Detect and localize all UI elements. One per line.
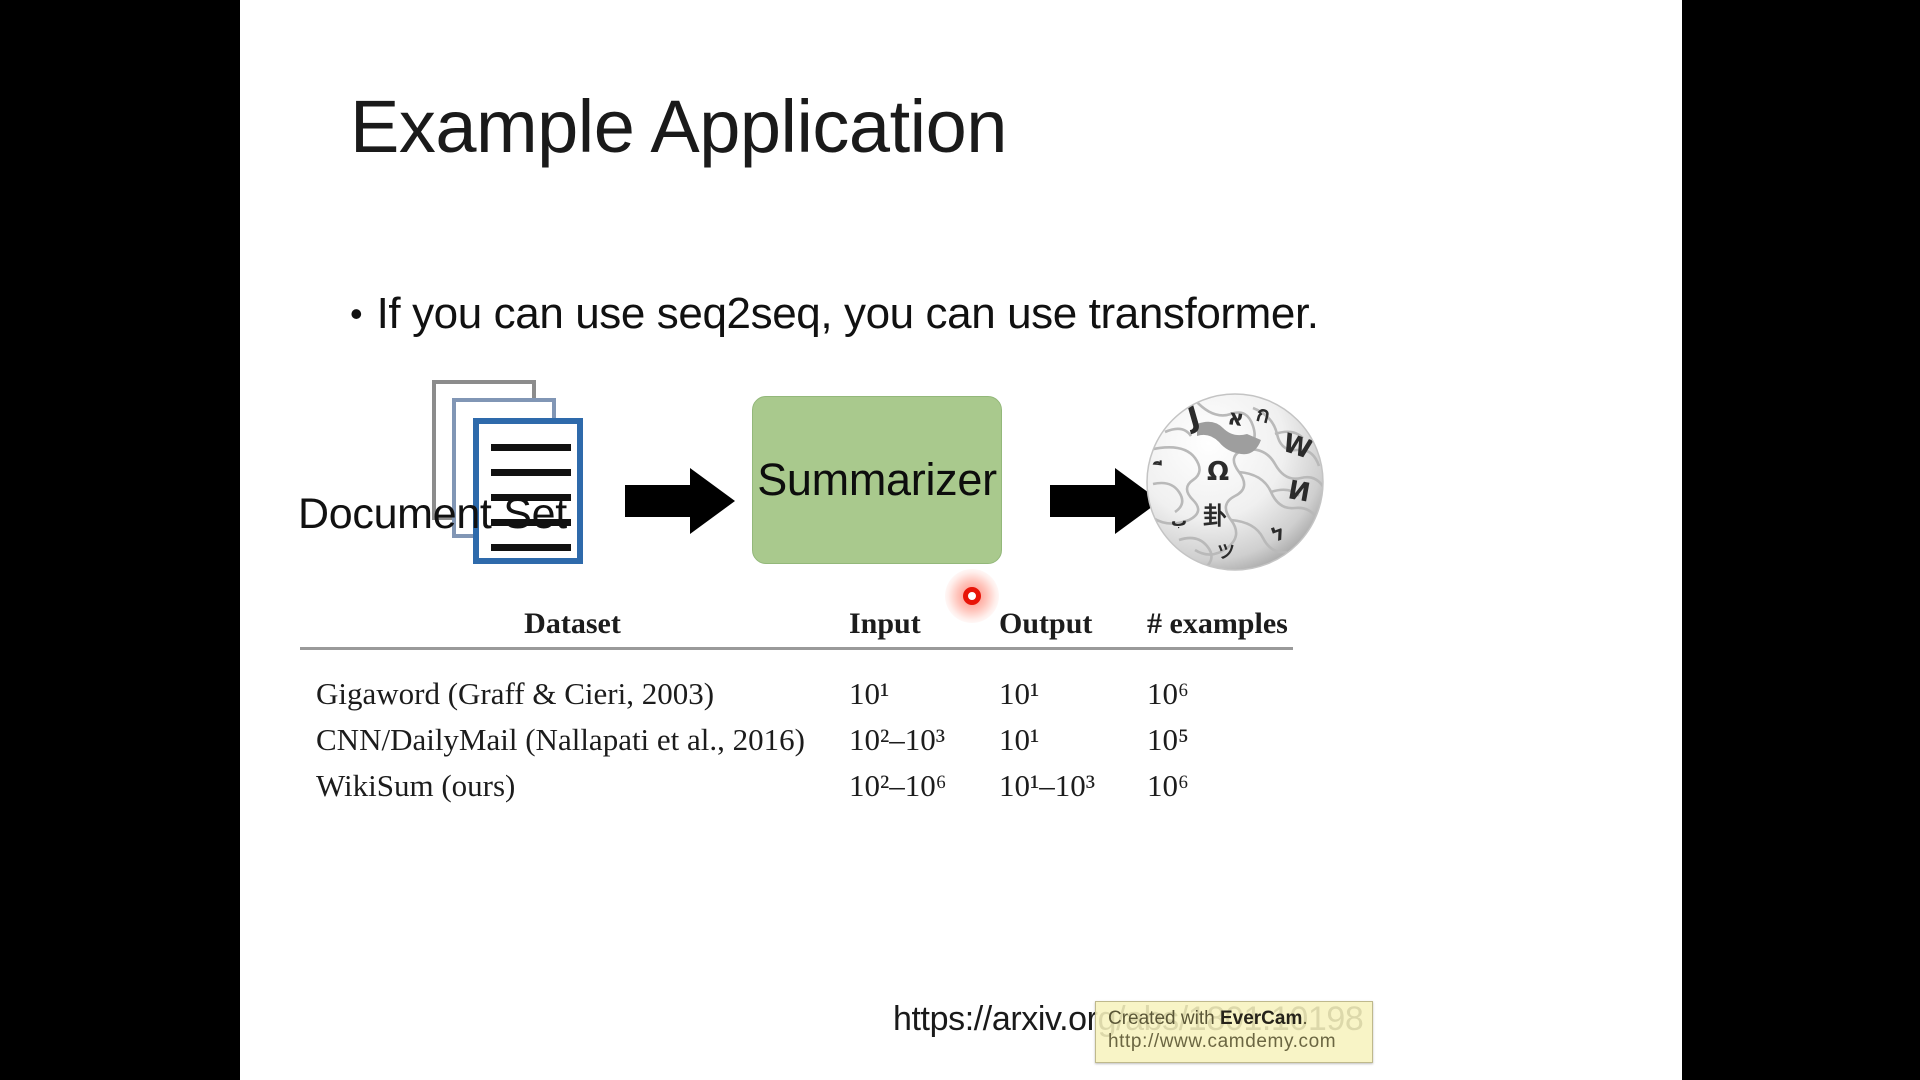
- evercam-url: http://www.camdemy.com: [1108, 1030, 1362, 1054]
- wikipedia-globe-icon: J א ก W И Ω ี 卦 ל ツ ب: [1135, 380, 1335, 580]
- cell-input: 10²–10³: [845, 722, 987, 758]
- table-header-examples: # examples: [1137, 607, 1293, 641]
- evercam-created-line: Created with EverCam.: [1108, 1007, 1362, 1030]
- document-text-line: [491, 544, 571, 551]
- letterbox-right: [1682, 0, 1920, 1080]
- dataset-table: Dataset Input Output # examples Gigaword…: [300, 595, 1300, 814]
- table-row: WikiSum (ours) 10²–10⁶ 10¹–10³ 10⁶: [300, 768, 1300, 814]
- cell-examples: 10⁶: [1137, 676, 1293, 712]
- table-header-rule: [300, 647, 1293, 650]
- evercam-brand: EverCam: [1220, 1008, 1302, 1029]
- cell-examples: 10⁵: [1137, 722, 1293, 758]
- cell-input: 10¹: [845, 676, 987, 712]
- cell-output: 10¹: [987, 676, 1137, 712]
- svg-text:ツ: ツ: [1217, 542, 1235, 563]
- bullet-marker-icon: •: [350, 288, 363, 340]
- document-text-line: [491, 469, 571, 476]
- table-header-dataset: Dataset: [300, 607, 845, 641]
- cell-examples: 10⁶: [1137, 768, 1293, 804]
- cell-output: 10¹: [987, 722, 1137, 758]
- table-header-input: Input: [845, 607, 987, 641]
- evercam-suffix: .: [1302, 1008, 1307, 1029]
- cell-input: 10²–10⁶: [845, 768, 987, 804]
- cell-dataset: Gigaword (Graff & Cieri, 2003): [300, 676, 845, 712]
- letterbox-left: [0, 0, 240, 1080]
- evercam-watermark: Created with EverCam. http://www.camdemy…: [1095, 1001, 1373, 1063]
- table-body: Gigaword (Graff & Cieri, 2003) 10¹ 10¹ 1…: [300, 676, 1300, 814]
- summarizer-node: Summarizer: [752, 396, 1002, 564]
- document-text-line: [491, 444, 571, 451]
- evercam-prefix: Created with: [1108, 1008, 1220, 1029]
- svg-text:Ω: Ω: [1207, 457, 1229, 487]
- table-header-row: Dataset Input Output # examples: [300, 595, 1300, 641]
- summarizer-label: Summarizer: [757, 454, 997, 506]
- table-row: CNN/DailyMail (Nallapati et al., 2016) 1…: [300, 722, 1300, 768]
- table-header-output: Output: [987, 607, 1137, 641]
- cell-dataset: CNN/DailyMail (Nallapati et al., 2016): [300, 722, 845, 758]
- video-frame: Example Application • If you can use seq…: [0, 0, 1920, 1080]
- svg-text:ب: ب: [1171, 511, 1187, 530]
- table-row: Gigaword (Graff & Cieri, 2003) 10¹ 10¹ 1…: [300, 676, 1300, 722]
- cell-dataset: WikiSum (ours): [300, 768, 845, 804]
- bullet-item: • If you can use seq2seq, you can use tr…: [350, 288, 1319, 340]
- document-set-label: Document Set: [298, 490, 567, 539]
- page-title: Example Application: [350, 88, 1007, 166]
- slide-canvas: Example Application • If you can use seq…: [240, 0, 1682, 1080]
- cell-output: 10¹–10³: [987, 768, 1137, 804]
- bullet-item-label: If you can use seq2seq, you can use tran…: [377, 288, 1319, 340]
- right-arrow-icon: [625, 468, 735, 534]
- svg-text:卦: 卦: [1203, 502, 1227, 530]
